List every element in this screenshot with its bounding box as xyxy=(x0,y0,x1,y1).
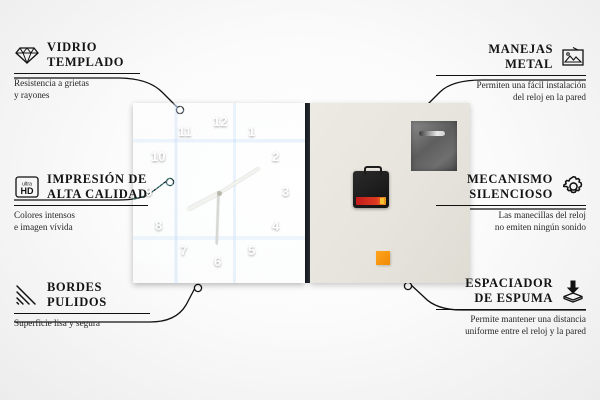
callout-title-line1: MANEJAS xyxy=(488,42,553,56)
callout-title-line2: TEMPLADO xyxy=(47,55,124,69)
clock-numeral: 12 xyxy=(213,115,227,128)
clock-numeral: 6 xyxy=(214,255,221,268)
battery xyxy=(356,197,386,205)
diamond-icon xyxy=(14,42,40,68)
callout-sub-line2: del reloj en la pared xyxy=(513,92,586,102)
callout-bordes-pulidos: BORDES PULIDOS Superficie lisa y segura xyxy=(14,280,150,330)
callout-sub-line2: no emiten ningún sonido xyxy=(495,222,586,232)
callout-rule xyxy=(436,205,586,206)
callout-title-line2: SILENCIOSO xyxy=(469,187,553,201)
clock-numeral: 3 xyxy=(282,185,289,198)
callout-rule xyxy=(436,75,586,76)
callout-mecanismo-silencioso: MECANISMO SILENCIOSO Las manecillas del … xyxy=(436,172,586,233)
callout-title-line2: DE ESPUMA xyxy=(474,291,553,305)
callout-rule xyxy=(14,73,140,74)
callout-espaciador-espuma: ESPACIADOR DE ESPUMA Permite mantener un… xyxy=(436,276,586,337)
svg-text:HD: HD xyxy=(21,186,34,196)
clock-numeral: 8 xyxy=(155,219,162,232)
clock-numeral: 10 xyxy=(151,150,165,163)
down-arrow-stack-icon xyxy=(560,278,586,304)
hanger-slot xyxy=(419,131,445,136)
callout-title-line1: BORDES xyxy=(47,280,102,294)
ultra-hd-icon: ultra HD xyxy=(14,174,40,200)
clock-numeral: 1 xyxy=(248,125,255,138)
callout-sub-line1: Las manecillas del reloj xyxy=(498,210,586,220)
quartz-mechanism xyxy=(353,171,389,208)
callout-title-line1: IMPRESIÓN DE xyxy=(47,172,147,186)
connector-dot-espaciador xyxy=(404,282,411,289)
polished-edges-icon xyxy=(14,282,40,308)
foam-spacer xyxy=(376,251,390,265)
callout-sub-line2: e imagen vívida xyxy=(14,222,73,232)
callout-vidrio-templado: VIDRIO TEMPLADO Resistencia a grietas y … xyxy=(14,40,140,101)
callout-sub-line2: y rayones xyxy=(14,90,49,100)
clock-numeral: 4 xyxy=(272,219,279,232)
clock-numeral: 5 xyxy=(248,244,255,257)
gear-icon xyxy=(560,174,586,200)
clock-face-panel: 12 1 2 3 4 5 6 7 8 9 10 11 xyxy=(133,103,305,283)
clock-numeral: 2 xyxy=(272,150,279,163)
callout-impresion-alta-calidad: ultra HD IMPRESIÓN DE ALTA CALIDAD Color… xyxy=(14,172,148,233)
infographic-stage: 12 1 2 3 4 5 6 7 8 9 10 11 xyxy=(0,0,600,400)
callout-sub-line2: uniforme entre el reloj y la pared xyxy=(465,326,586,336)
callout-title-line2: ALTA CALIDAD xyxy=(47,187,148,201)
callout-title-line1: MECANISMO xyxy=(467,172,553,186)
callout-sub-line1: Resistencia a grietas xyxy=(14,78,89,88)
callout-sub-line1: Superficie lisa y segura xyxy=(14,318,100,328)
mechanism-hook xyxy=(364,166,382,175)
callout-rule xyxy=(436,309,586,310)
clock-numeral: 11 xyxy=(178,125,192,138)
callout-title-line2: METAL xyxy=(505,57,553,71)
callout-sub-line1: Permite mantener una distancia xyxy=(470,314,586,324)
callout-rule xyxy=(14,205,148,206)
product-photo: 12 1 2 3 4 5 6 7 8 9 10 11 xyxy=(133,103,470,283)
callout-sub-line1: Permiten una fácil instalación xyxy=(477,80,586,90)
picture-frame-icon xyxy=(560,44,586,70)
callout-title-line1: VIDRIO xyxy=(47,40,97,54)
clock-center-pin xyxy=(217,191,222,196)
connector-dot-bordes xyxy=(194,284,201,291)
clock-numeral: 7 xyxy=(180,244,187,257)
callout-sub-line1: Colores intensos xyxy=(14,210,75,220)
metal-hanger-plate xyxy=(411,121,457,171)
callout-manejas-metal: MANEJAS METAL Permiten una fácil instala… xyxy=(436,42,586,103)
callout-rule xyxy=(14,313,150,314)
callout-title-line1: ESPACIADOR xyxy=(465,276,553,290)
callout-title-line2: PULIDOS xyxy=(47,295,107,309)
